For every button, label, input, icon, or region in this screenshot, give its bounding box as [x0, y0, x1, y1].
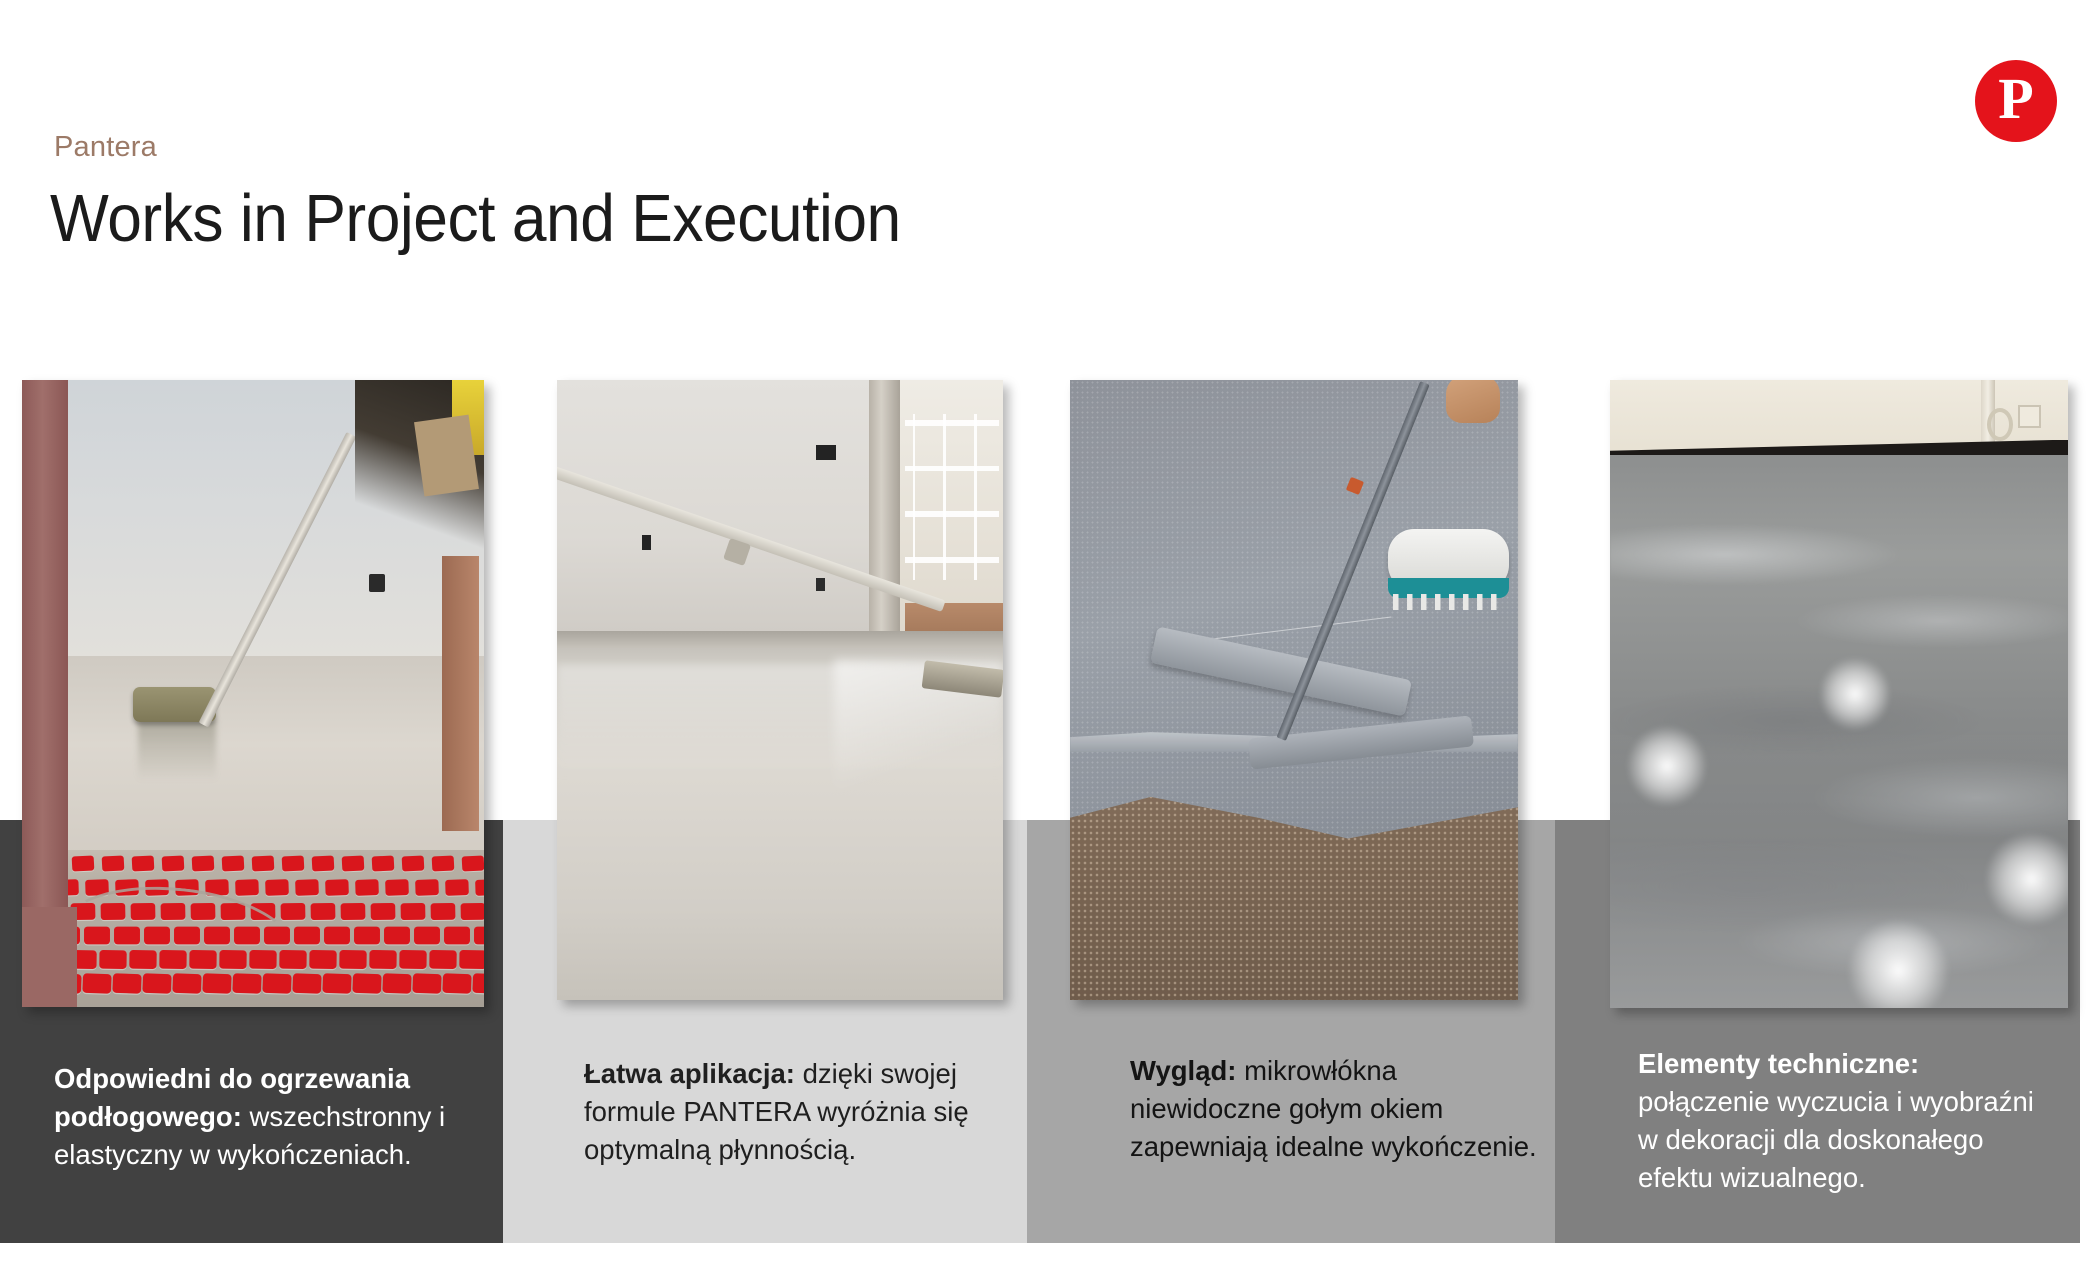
caption-2-bold: Łatwa aplikacja:	[584, 1058, 795, 1089]
caption-4: Elementy techniczne: połączenie wyczucia…	[1638, 1045, 2056, 1197]
caption-3-bold: Wygląd:	[1130, 1055, 1236, 1086]
photo-card-1	[22, 380, 484, 1007]
photo-2-scene	[557, 380, 1003, 1000]
caption-3: Wygląd: mikrowłókna niewidoczne gołym ok…	[1130, 1052, 1550, 1166]
caption-1: Odpowiedni do ogrzewania podłogowego: ws…	[54, 1060, 454, 1174]
photo-card-3	[1070, 380, 1518, 1000]
eyebrow-label: Pantera	[54, 131, 157, 164]
caption-4-bold: Elementy techniczne:	[1638, 1048, 1919, 1079]
pantera-logo: P	[1975, 60, 2057, 142]
photo-card-4	[1610, 380, 2068, 1008]
photo-card-2	[557, 380, 1003, 1000]
photo-4-scene	[1610, 380, 2068, 1008]
caption-4-rest: połączenie wyczucia i wyobraźni w dekora…	[1638, 1086, 2034, 1193]
logo-letter: P	[1998, 70, 2033, 128]
caption-2: Łatwa aplikacja: dzięki swojej formule P…	[584, 1055, 984, 1169]
page-title: Works in Project and Execution	[50, 185, 901, 252]
slide: Pantera Works in Project and Execution P	[0, 0, 2100, 1275]
photo-3-scene	[1070, 380, 1518, 1000]
photo-1-scene	[22, 380, 484, 1007]
